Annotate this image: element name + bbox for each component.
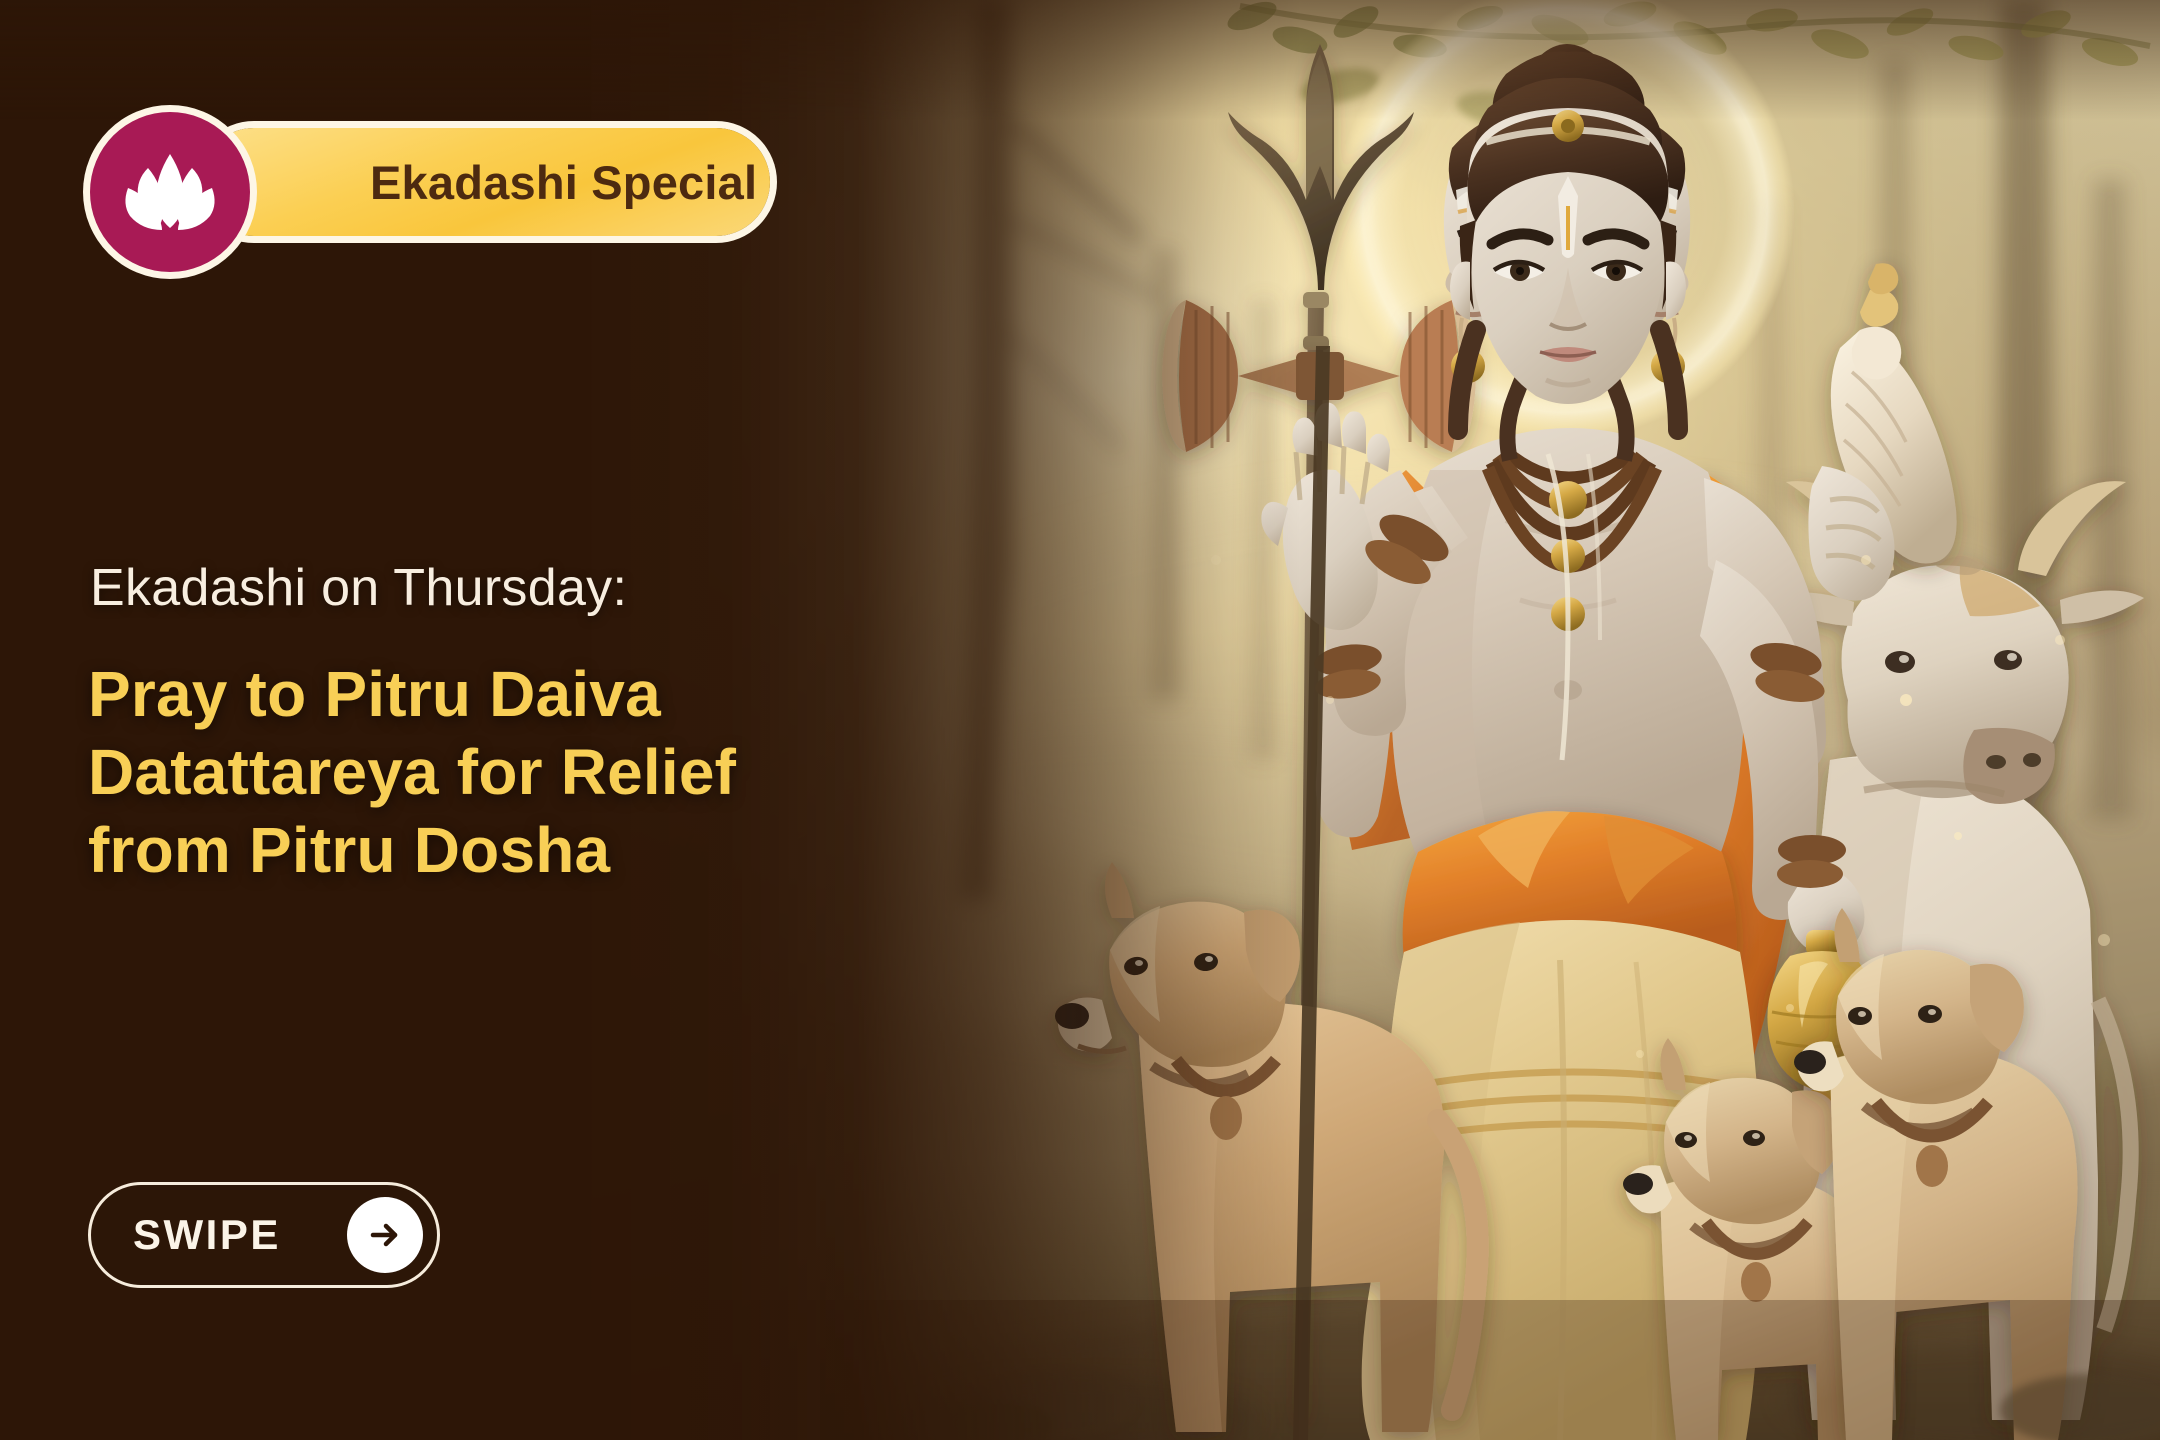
headline-line-1: Pray to Pitru Daiva [88,655,988,733]
arrow-right-icon[interactable] [347,1197,423,1273]
headline-line-2: Datattareya for Relief [88,733,988,811]
swipe-label: SWIPE [133,1211,347,1259]
headline-line-3: from Pitru Dosha [88,811,988,889]
badge-pill: Ekadashi Special [200,128,770,236]
headline: Pray to Pitru Daiva Datattareya for Reli… [88,655,988,889]
promo-card: Ekadashi Special Ekadashi on Thursday: P… [0,0,2160,1440]
kicker-text: Ekadashi on Thursday: [90,558,627,618]
badge-label: Ekadashi Special [370,155,757,210]
lotus-icon [90,112,250,272]
swipe-button[interactable]: SWIPE [88,1182,440,1288]
